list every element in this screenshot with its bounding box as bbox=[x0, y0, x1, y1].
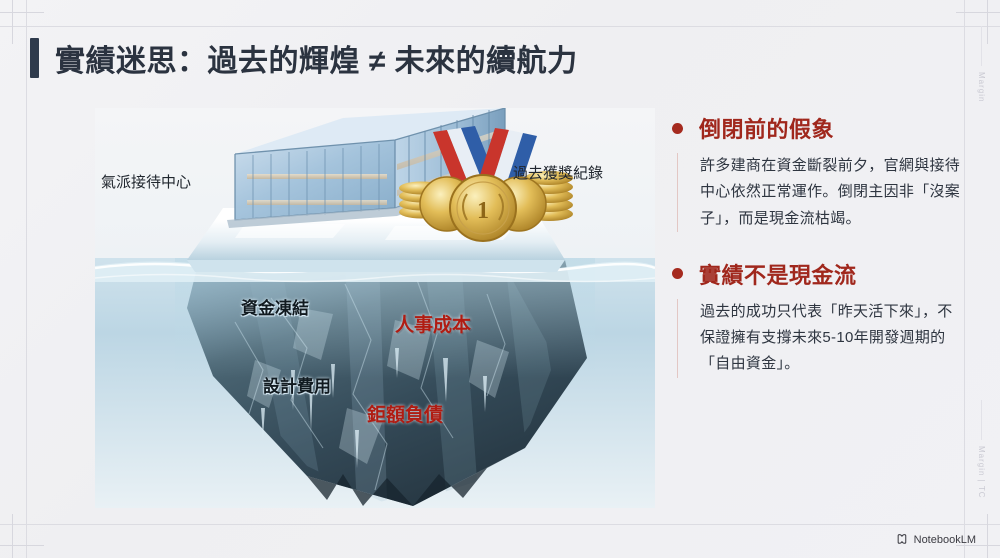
insight-block-1: 倒閉前的假象 許多建商在資金斷裂前夕，官網與接待中心依然正常運作。倒閉主因非「沒… bbox=[672, 112, 962, 232]
slide-title-group: 實績迷思：過去的輝煌 ≠ 未來的續航力 bbox=[30, 36, 578, 80]
crop-mark-tr-v bbox=[987, 0, 988, 44]
crop-mark-br-v bbox=[987, 514, 988, 558]
insights-panel: 倒閉前的假象 許多建商在資金斷裂前夕，官網與接待中心依然正常運作。倒閉主因非「沒… bbox=[672, 112, 962, 404]
crop-guide-top bbox=[0, 26, 1000, 27]
crop-mark-bl-h bbox=[0, 545, 44, 546]
insight-1-body: 許多建商在資金斷裂前夕，官網與接待中心依然正常運作。倒閉主因非「沒案子」，而是現… bbox=[700, 153, 962, 232]
crop-mark-bl-v bbox=[12, 514, 13, 558]
crop-mark-tr-h bbox=[956, 12, 1000, 13]
insight-block-2: 實績不是現金流 過去的成功只代表「昨天活下來」，不保證擁有支撐未來5-10年開發… bbox=[672, 258, 962, 378]
slide-canvas: Margin Margin | TC 實績迷思：過去的輝煌 ≠ 未來的續航力 bbox=[0, 0, 1000, 558]
insight-2-body-wrap: 過去的成功只代表「昨天活下來」，不保證擁有支撐未來5-10年開發週期的「自由資金… bbox=[677, 299, 962, 378]
brand-name: NotebookLM bbox=[914, 534, 976, 546]
insight-1-title: 倒閉前的假象 bbox=[699, 112, 834, 144]
page-title: 實績迷思：過去的輝煌 ≠ 未來的續航力 bbox=[55, 36, 578, 80]
label-reception-center: 氣派接待中心 bbox=[101, 171, 191, 192]
insight-1-head: 倒閉前的假象 bbox=[672, 112, 962, 144]
crop-mark-tl-h bbox=[0, 12, 44, 13]
crop-guide-left bbox=[26, 0, 27, 558]
notebooklm-logo-icon bbox=[896, 533, 909, 546]
margin-label-bottom: Margin | TC bbox=[977, 446, 986, 499]
insight-1-body-wrap: 許多建商在資金斷裂前夕，官網與接待中心依然正常運作。倒閉主因非「沒案子」，而是現… bbox=[677, 153, 962, 232]
label-huge-debt: 鉅額負債 bbox=[367, 400, 443, 427]
title-accent-bar bbox=[30, 38, 39, 78]
label-design-fees: 設計費用 bbox=[263, 372, 331, 397]
brand-footer: NotebookLM bbox=[896, 533, 976, 546]
insight-2-head: 實績不是現金流 bbox=[672, 258, 962, 290]
crop-guide-bottom bbox=[0, 524, 1000, 525]
margin-tick-bottom bbox=[981, 400, 982, 440]
insight-2-title: 實績不是現金流 bbox=[699, 258, 857, 290]
margin-label-top: Margin bbox=[977, 72, 986, 102]
crop-guide-right bbox=[964, 0, 965, 558]
label-frozen-funds: 資金凍結 bbox=[241, 294, 309, 319]
iceberg-illustration: 1 氣派接待中心 過去獲獎紀錄 資金凍結 人事成本 設計費用 鉅額負債 bbox=[95, 108, 655, 508]
bullet-dot-icon bbox=[672, 268, 683, 279]
margin-tick-top bbox=[981, 26, 982, 66]
label-past-awards: 過去獲獎紀錄 bbox=[513, 162, 603, 183]
insight-2-body: 過去的成功只代表「昨天活下來」，不保證擁有支撐未來5-10年開發週期的「自由資金… bbox=[700, 299, 962, 378]
bullet-dot-icon bbox=[672, 123, 683, 134]
medal-rank-number: 1 bbox=[477, 198, 489, 224]
label-personnel-cost: 人事成本 bbox=[395, 310, 471, 337]
crop-mark-tl-v bbox=[12, 0, 13, 44]
